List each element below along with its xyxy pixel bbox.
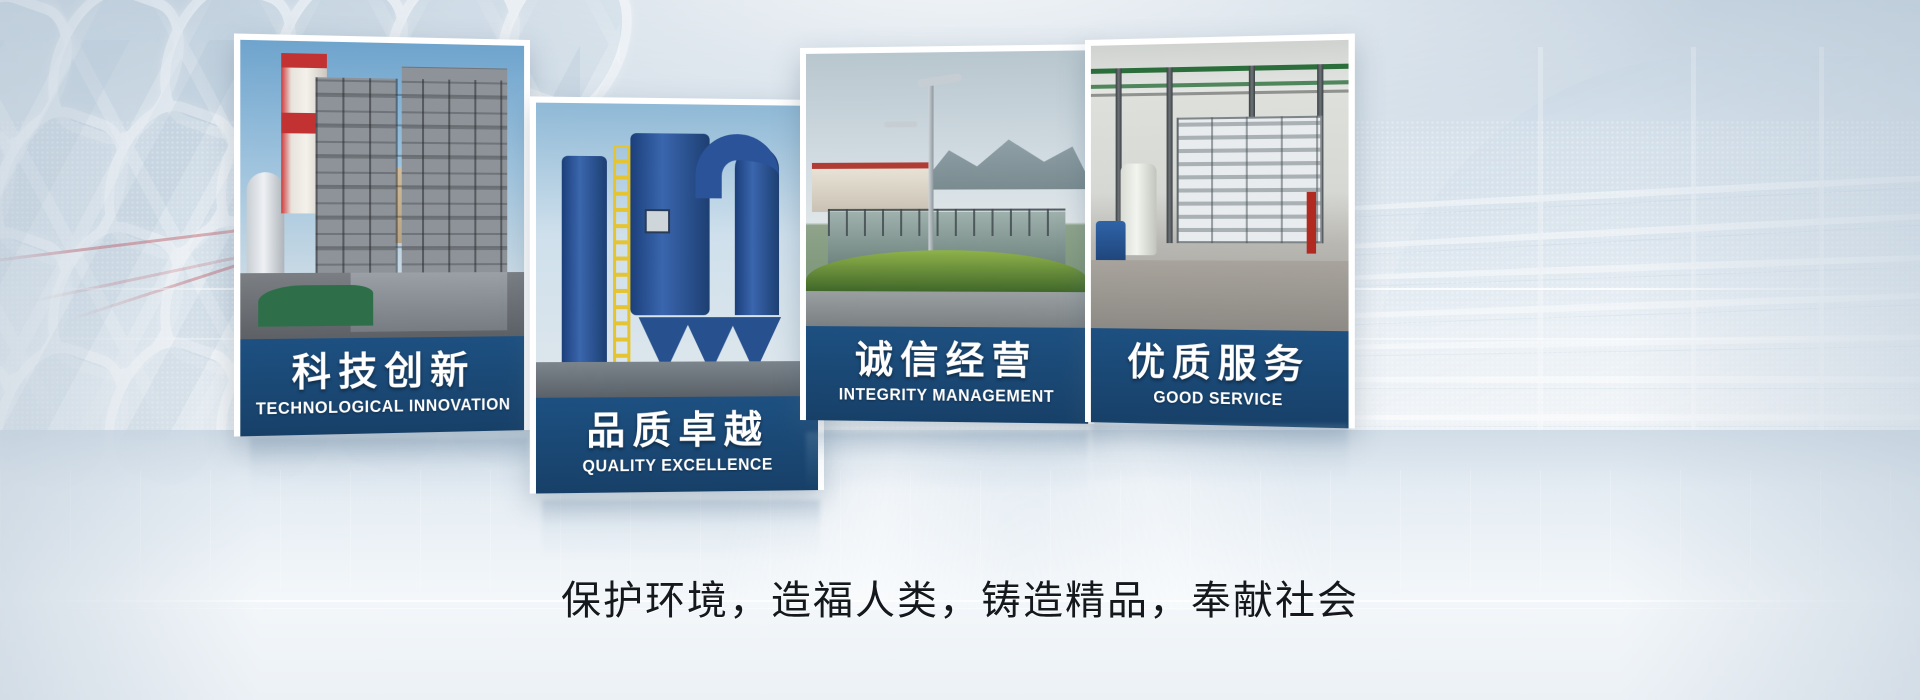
card-title-en: QUALITY EXCELLENCE bbox=[551, 454, 803, 477]
card-title-en: GOOD SERVICE bbox=[1105, 386, 1335, 411]
card-title-cn: 品质卓越 bbox=[540, 410, 814, 454]
banner-tagline: 保护环境，造福人类，铸造精品，奉献社会 bbox=[0, 568, 1920, 626]
card-title-cn: 优质服务 bbox=[1095, 342, 1344, 388]
card-reflection bbox=[1092, 424, 1348, 482]
banner-stage: 科技创新 TECHNOLOGICAL INNOVATION bbox=[0, 0, 1920, 700]
card-title-cn: 科技创新 bbox=[245, 350, 521, 396]
card-title-en: INTEGRITY MANAGEMENT bbox=[821, 384, 1073, 407]
feature-card-quality-excellence[interactable]: 品质卓越 QUALITY EXCELLENCE bbox=[530, 96, 824, 493]
card-reflection bbox=[542, 500, 820, 558]
feature-card-technological-innovation[interactable]: 科技创新 TECHNOLOGICAL INNOVATION bbox=[234, 33, 530, 436]
card-caption: 科技创新 TECHNOLOGICAL INNOVATION bbox=[240, 336, 524, 436]
card-photo-ro-membrane-room bbox=[1091, 40, 1349, 331]
card-caption: 优质服务 GOOD SERVICE bbox=[1091, 328, 1349, 428]
card-title-en: TECHNOLOGICAL INNOVATION bbox=[256, 394, 510, 419]
card-reflection bbox=[250, 438, 528, 500]
card-photo-blue-ducting bbox=[536, 103, 818, 398]
feature-card-good-service[interactable]: 优质服务 GOOD SERVICE bbox=[1085, 34, 1355, 429]
card-photo-industrial-stack bbox=[240, 40, 524, 340]
card-reflection bbox=[806, 432, 1088, 492]
card-photo-wastewater-plant bbox=[806, 50, 1088, 327]
card-caption: 诚信经营 INTEGRITY MANAGEMENT bbox=[806, 326, 1088, 424]
card-caption: 品质卓越 QUALITY EXCELLENCE bbox=[536, 396, 818, 494]
feature-card-integrity-management[interactable]: 诚信经营 INTEGRITY MANAGEMENT bbox=[800, 44, 1094, 424]
card-title-cn: 诚信经营 bbox=[810, 340, 1084, 384]
